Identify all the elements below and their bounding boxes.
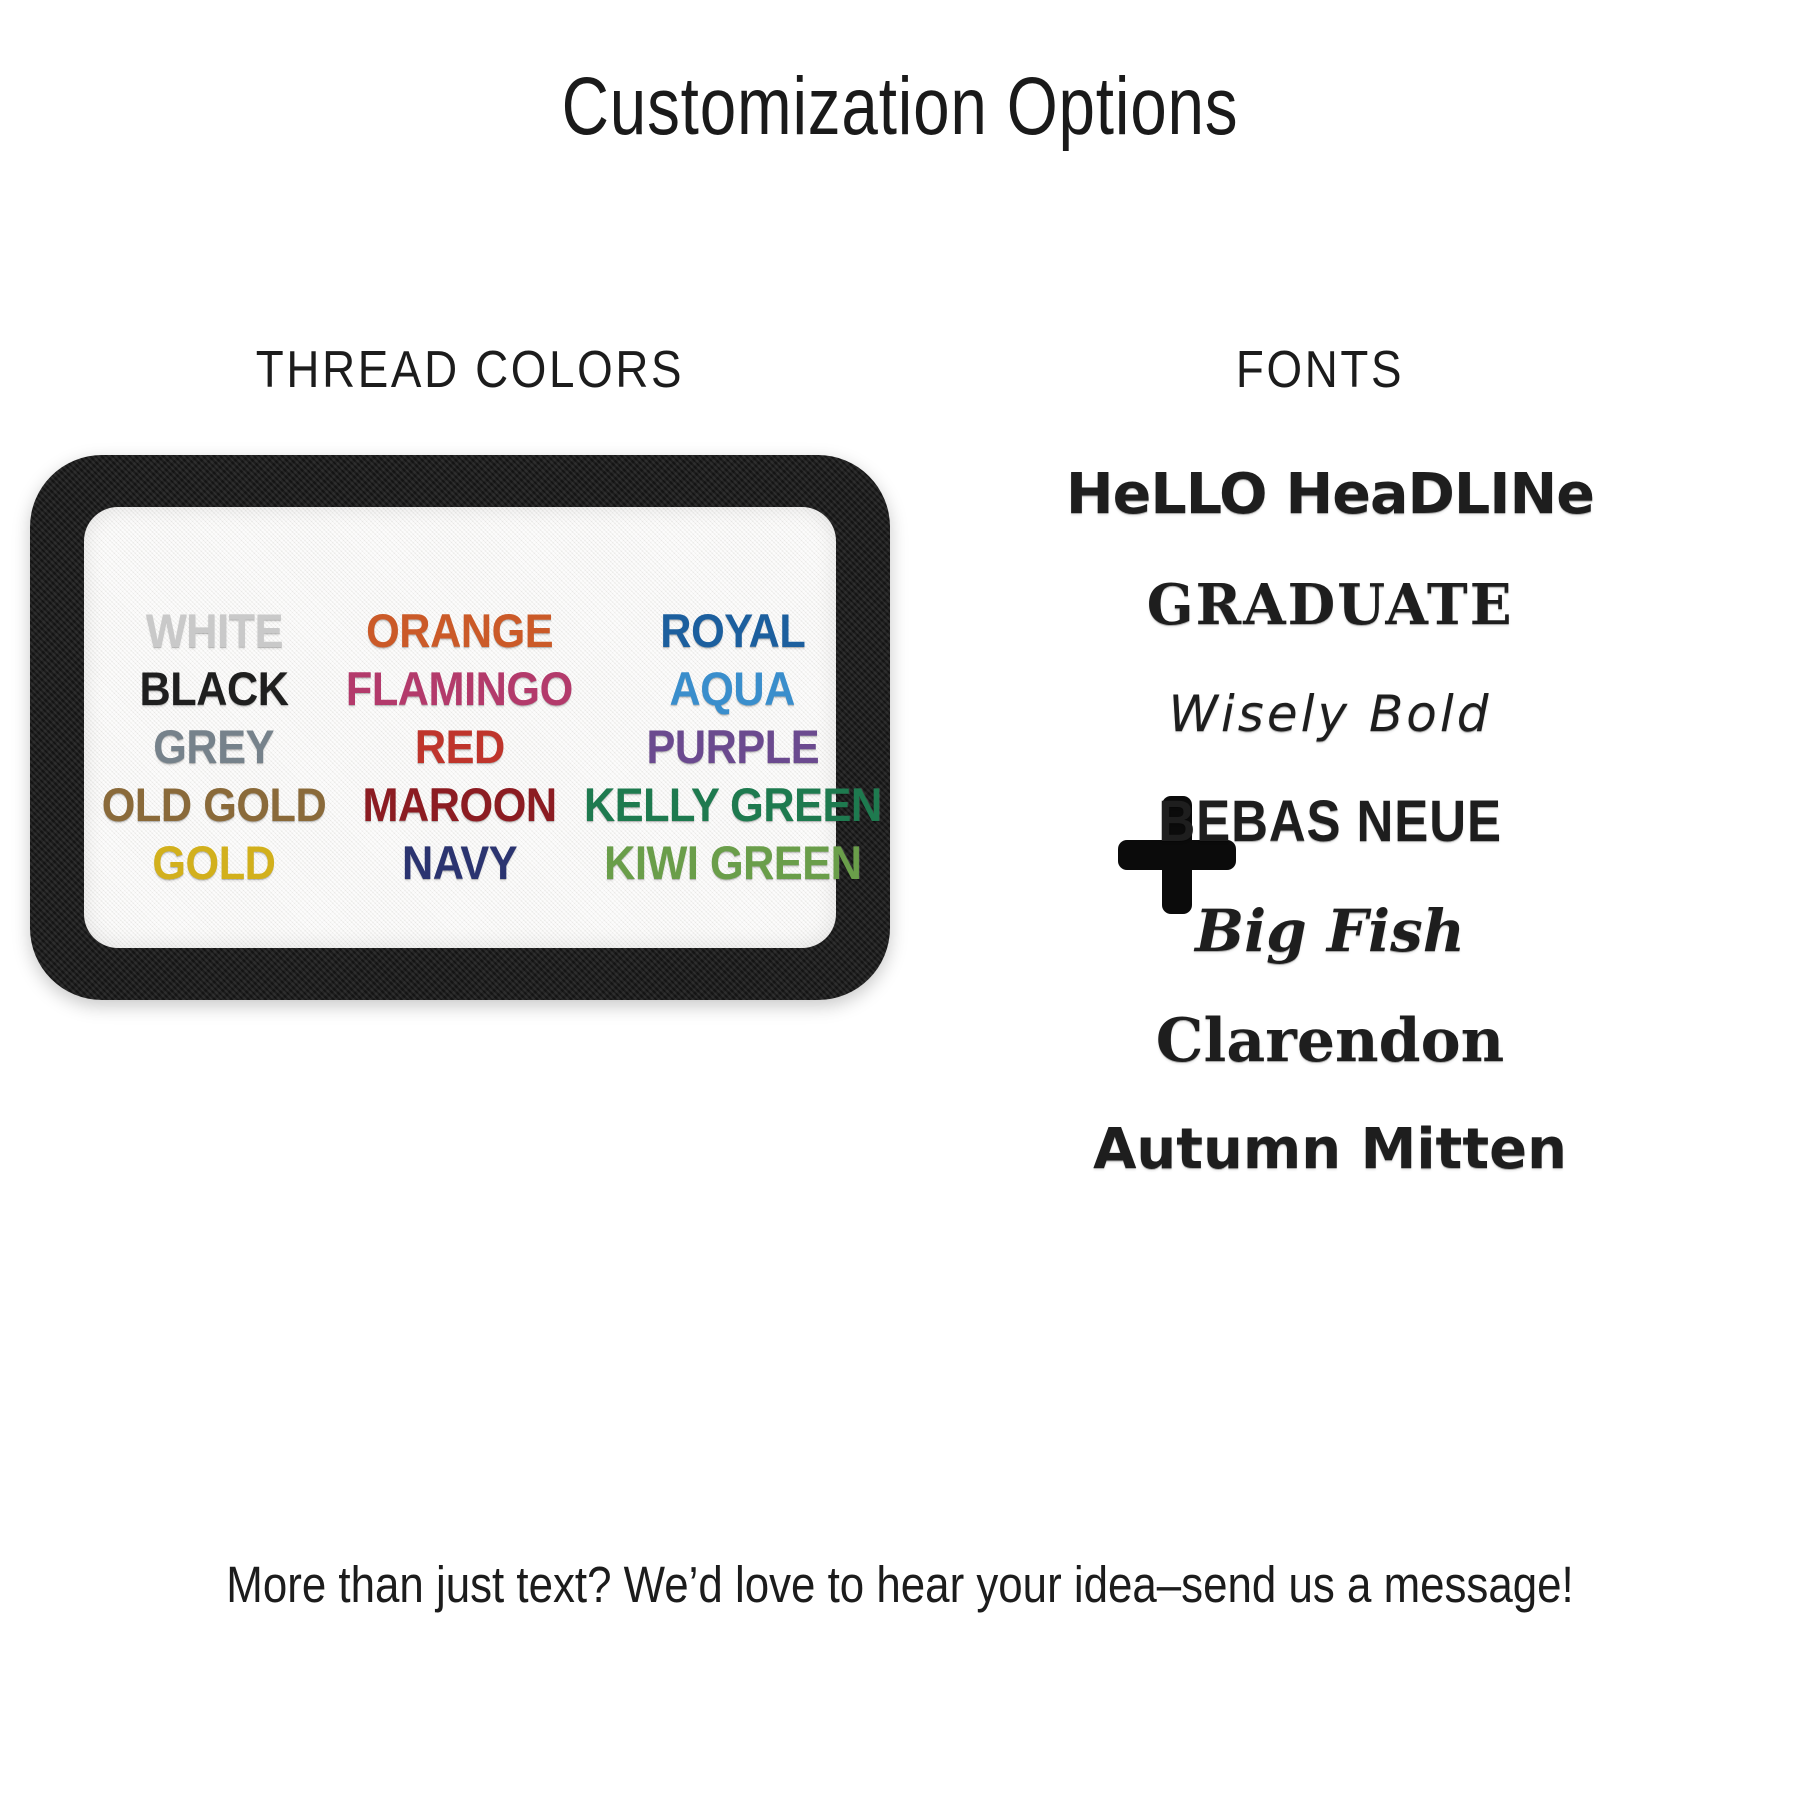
font-sample-graduate: GRADUATE bbox=[1147, 550, 1514, 660]
font-sample-autumn-mitten: Autumn Mitten bbox=[1093, 1096, 1567, 1204]
thread-color-grid: WHITE BLACK GREY OLD GOLD GOLD ORANGE FL… bbox=[84, 603, 836, 891]
thread-swatch-flamingo: FLAMINGO bbox=[346, 661, 573, 717]
thread-swatch-royal: ROYAL bbox=[660, 603, 805, 659]
page-title: Customization Options bbox=[180, 60, 1620, 154]
font-samples-list: HeLLO HeaDLINe GRADUATE Wisely Bold BEBA… bbox=[1000, 440, 1660, 1204]
thread-swatch-navy: NAVY bbox=[402, 835, 517, 891]
font-sample-bebas-neue: BEBAS NEUE bbox=[1158, 768, 1501, 876]
thread-colors-heading: THREAD COLORS bbox=[162, 340, 778, 400]
thread-swatch-orange: ORANGE bbox=[366, 603, 553, 659]
thread-swatch-grey: GREY bbox=[154, 719, 275, 775]
thread-swatch-gold: GOLD bbox=[152, 835, 275, 891]
thread-swatch-white: WHITE bbox=[146, 603, 283, 659]
font-sample-hello-headline: HeLLO HeaDLINe bbox=[1066, 440, 1594, 550]
patch-fabric-area: WHITE BLACK GREY OLD GOLD GOLD ORANGE FL… bbox=[84, 507, 836, 948]
font-sample-clarendon: Clarendon bbox=[1156, 986, 1504, 1096]
thread-swatch-red: RED bbox=[414, 719, 504, 775]
thread-swatch-old-gold: OLD GOLD bbox=[102, 777, 327, 833]
font-sample-big-fish: Big Fish bbox=[1195, 876, 1465, 986]
thread-color-column: WHITE BLACK GREY OLD GOLD GOLD bbox=[92, 603, 336, 891]
thread-swatch-kiwi-green: KIWI GREEN bbox=[604, 835, 861, 891]
thread-swatch-black: BLACK bbox=[140, 661, 289, 717]
thread-color-column: ROYAL AQUA PURPLE KELLY GREEN KIWI GREEN bbox=[583, 603, 883, 891]
embroidered-patch: WHITE BLACK GREY OLD GOLD GOLD ORANGE FL… bbox=[30, 455, 890, 1000]
fonts-heading: FONTS bbox=[1038, 340, 1601, 400]
thread-color-column: ORANGE FLAMINGO RED MAROON NAVY bbox=[336, 603, 583, 891]
thread-swatch-aqua: AQUA bbox=[670, 661, 795, 717]
font-sample-wisely-bold: Wisely Bold bbox=[1168, 660, 1491, 768]
thread-swatch-maroon: MAROON bbox=[362, 777, 556, 833]
thread-swatch-kelly-green: KELLY GREEN bbox=[584, 777, 882, 833]
footer-note: More than just text? We’d love to hear y… bbox=[126, 1555, 1674, 1614]
thread-swatch-purple: PURPLE bbox=[646, 719, 819, 775]
